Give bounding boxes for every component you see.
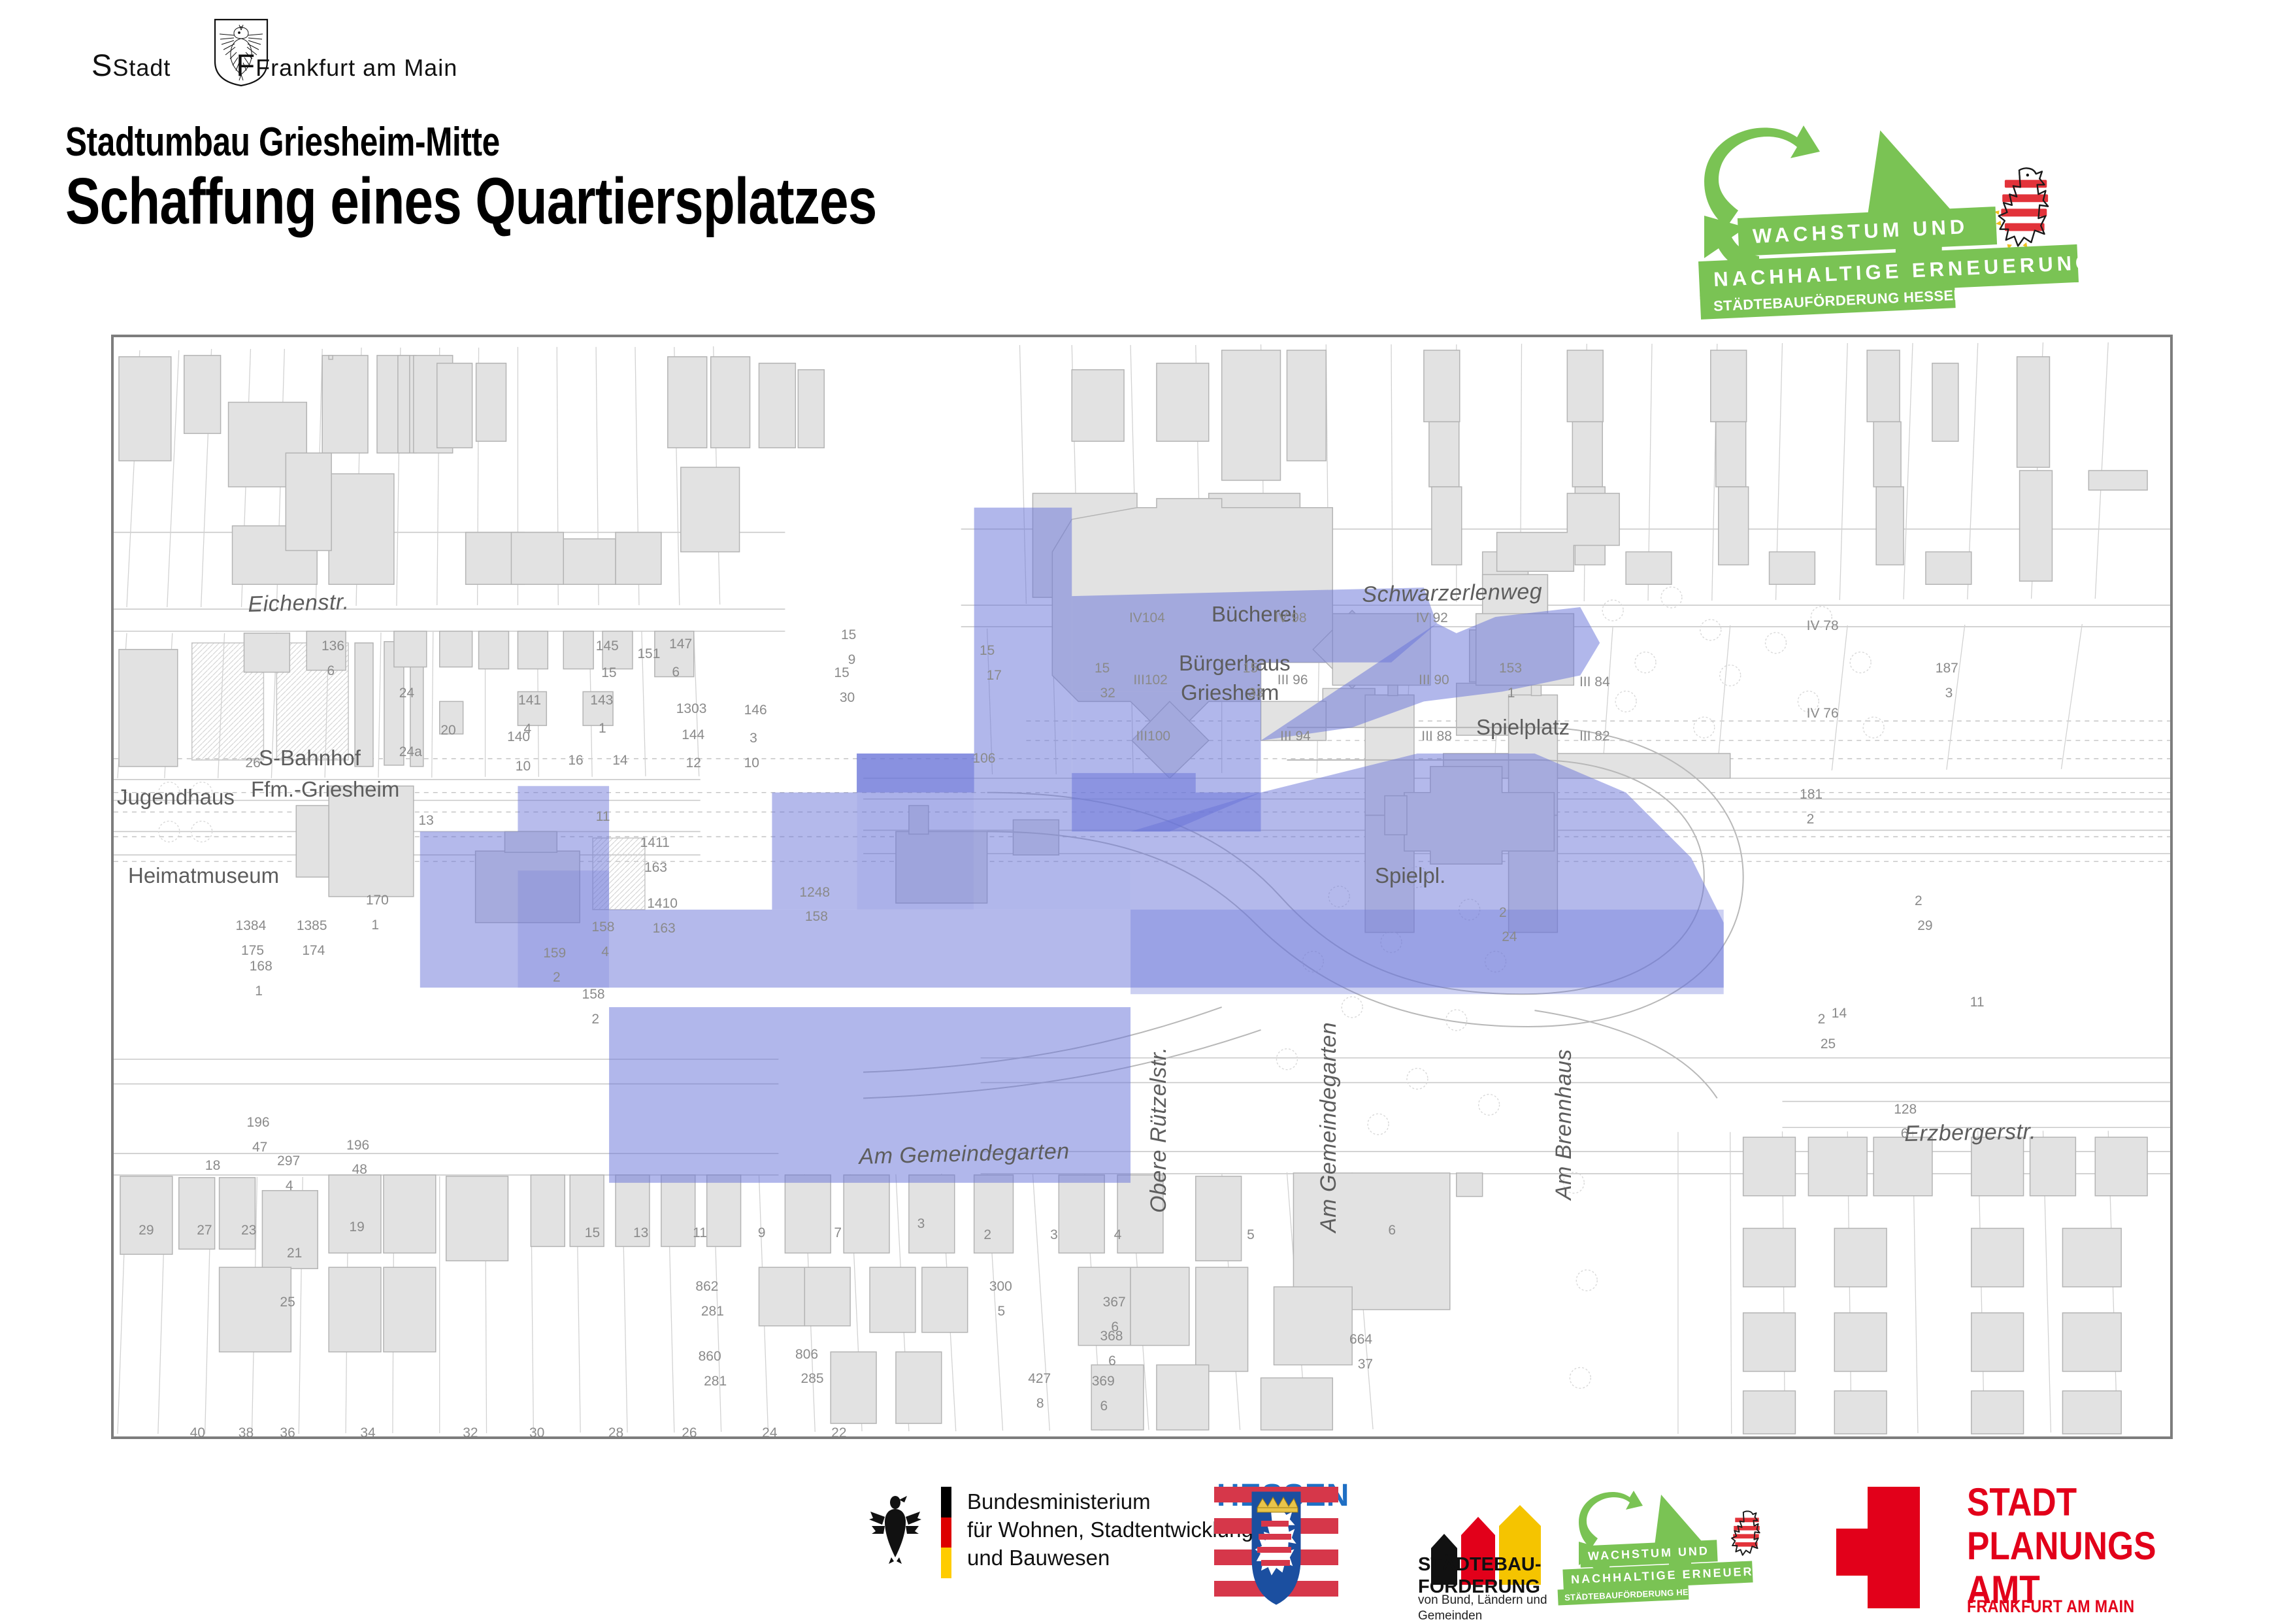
- logo-word-stadt: Stadt: [112, 54, 171, 81]
- stadtplanungsamt-subtitle: FRANKFURT AM MAIN: [1967, 1597, 2134, 1617]
- spa-line2: PLANUNGS: [1967, 1524, 2156, 1568]
- page-subtitle: Stadtumbau Griesheim-Mitte: [65, 121, 876, 163]
- stadt-frankfurt-logo: SStadtFFrankfurt am Main: [91, 18, 523, 87]
- map-graphic: [114, 337, 2170, 1436]
- title-block: Stadtumbau Griesheim-Mitte Schaffung ein…: [65, 121, 1080, 236]
- page-footer: Bundesministerium für Wohnen, Stadtentwi…: [0, 1474, 2293, 1621]
- german-flag-bar: [941, 1487, 951, 1578]
- staedtebaufoerderung-title: STÄDTEBAU- FÖRDERUNG: [1418, 1553, 1542, 1598]
- page-header: SStadtFFrankfurt am Main Stadtumbau Grie…: [0, 0, 2293, 327]
- stfo-sub2: Gemeinden: [1418, 1608, 1547, 1624]
- stfo-line1: STÄDTEBAU-: [1418, 1553, 1542, 1576]
- logo-word-frankfurt: Frankfurt am Main: [256, 54, 457, 81]
- staedtebaufoerderung-sub: von Bund, Ländern und Gemeinden: [1418, 1593, 1547, 1624]
- bundesadler-icon: [869, 1492, 921, 1564]
- bund-line1: Bundesministerium: [967, 1488, 1253, 1516]
- bund-line3: und Bauwesen: [967, 1544, 1253, 1572]
- cadastral-map[interactable]: Eichenstr.SchwarzerlenwegAm Gemeindegart…: [111, 335, 2173, 1439]
- spa-line1: STADT: [1967, 1480, 2156, 1524]
- bundesministerium-text: Bundesministerium für Wohnen, Stadtentwi…: [967, 1488, 1253, 1572]
- stadtplanungsamt-mark-icon: [1830, 1485, 1941, 1610]
- hessen-coat-of-arms-icon: [1214, 1480, 1338, 1611]
- city-logo-wordmark: SStadtFFrankfurt am Main: [91, 47, 523, 86]
- page-title: Schaffung eines Quartiersplatzes: [65, 167, 876, 236]
- bund-line2: für Wohnen, Stadtentwicklung: [967, 1516, 1253, 1544]
- program-logo: WACHSTUM UND NACHHALTIGE ERNEUERUNG STÄD…: [1699, 118, 2169, 333]
- stadtplanungsamt-wordmark: STADT PLANUNGS AMT: [1967, 1480, 2156, 1612]
- program-logo-footer: WACHSTUM UND NACHHALTIGE ERNEUERUNG STÄD…: [1575, 1485, 1790, 1610]
- stfo-sub1: von Bund, Ländern und: [1418, 1593, 1547, 1608]
